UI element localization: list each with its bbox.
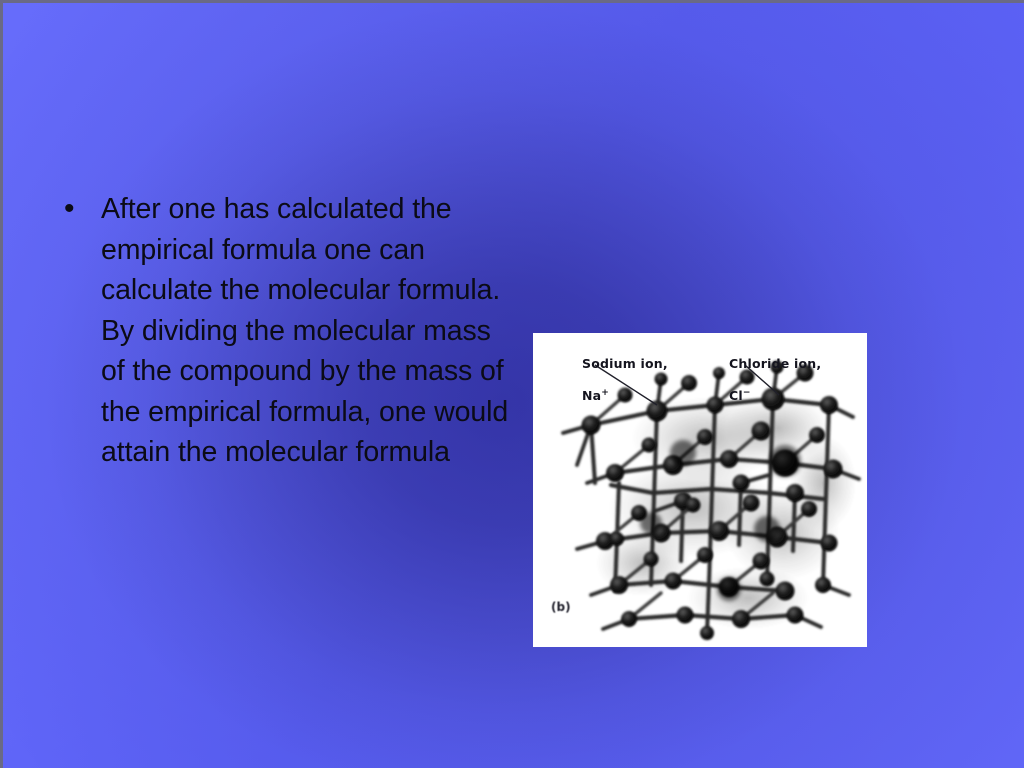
sodium-ion-label-line1: Sodium ion, — [582, 356, 668, 371]
bullet-text: After one has calculated the empirical f… — [101, 189, 515, 473]
sodium-ion-label: Sodium ion, Na+ — [582, 341, 668, 403]
chloride-ion-label-line1: Chloride ion, — [729, 356, 821, 371]
sodium-ion-label-symbol: Na — [582, 388, 601, 403]
slide-canvas: • After one has calculated the empirical… — [0, 0, 1024, 768]
chloride-ion-charge: − — [743, 388, 751, 398]
body-text-placeholder[interactable]: • After one has calculated the empirical… — [55, 189, 515, 473]
chloride-ion-label-symbol: Cl — [729, 388, 743, 403]
bullet-item[interactable]: • After one has calculated the empirical… — [55, 189, 515, 473]
bullet-marker: • — [55, 189, 101, 230]
figure-panel-label: (b) — [551, 600, 571, 614]
chloride-ion-label: Chloride ion, Cl− — [729, 341, 821, 403]
nacl-lattice-figure[interactable]: Sodium ion, Na+ Chloride ion, Cl− (b) — [533, 333, 867, 647]
sodium-ion-charge: + — [601, 388, 609, 398]
